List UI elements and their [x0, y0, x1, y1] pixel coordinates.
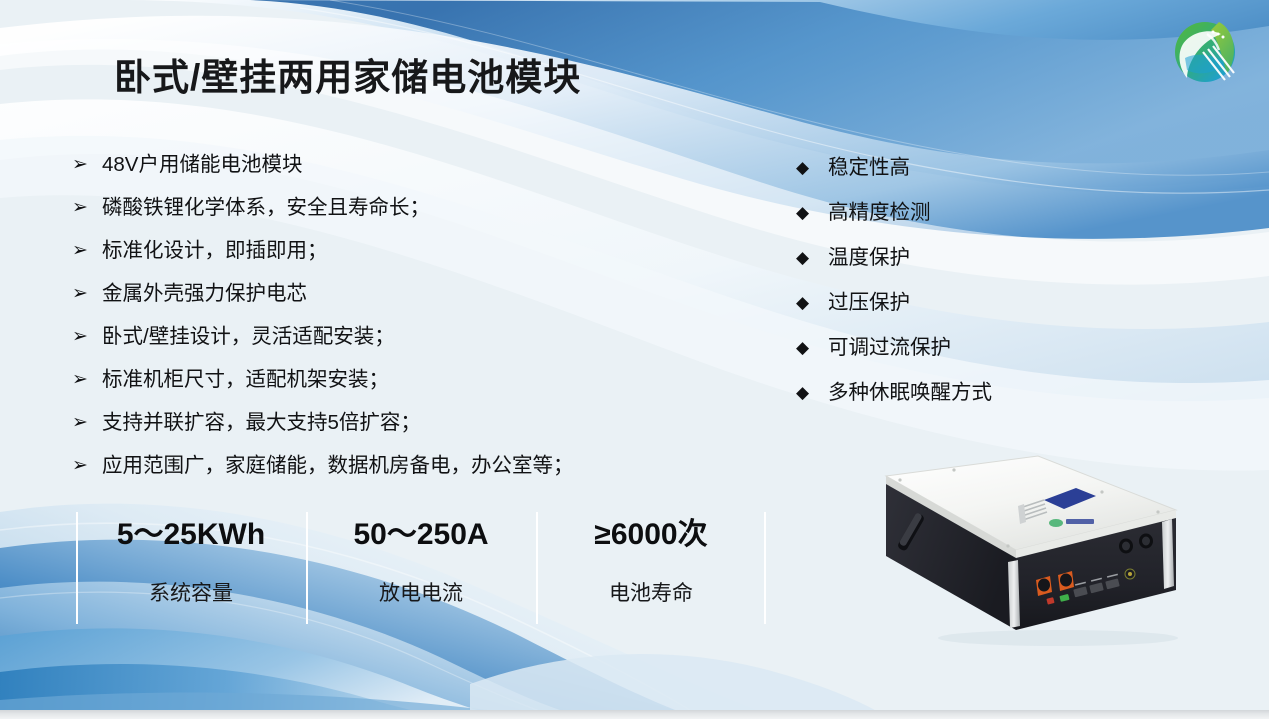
list-item-label: 磷酸铁锂化学体系，安全且寿命长；: [102, 195, 712, 221]
diamond-bullet-icon: ◆: [796, 245, 828, 271]
list-item: ◆ 高精度检测: [796, 200, 1096, 226]
features-right-list: ◆ 稳定性高 ◆ 高精度检测 ◆ 温度保护 ◆ 过压保护 ◆ 可调过流保护 ◆ …: [796, 155, 1096, 425]
list-item-label: 温度保护: [828, 245, 1096, 271]
list-item: ◆ 可调过流保护: [796, 335, 1096, 361]
stat-value: 50～250A: [306, 516, 536, 554]
list-item: ➢ 标准化设计，即插即用；: [72, 238, 712, 264]
list-item-label: 卧式/壁挂设计，灵活适配安装；: [102, 324, 712, 350]
stat-label: 放电电流: [306, 580, 536, 608]
diamond-bullet-icon: ◆: [796, 380, 828, 406]
list-item: ◆ 温度保护: [796, 245, 1096, 271]
list-item-label: 支持并联扩容，最大支持5倍扩容；: [102, 410, 712, 436]
stat-card: 50～250A 放电电流: [306, 508, 536, 626]
diamond-bullet-icon: ◆: [796, 290, 828, 316]
list-item: ➢ 金属外壳强力保护电芯: [72, 281, 712, 307]
list-item-label: 可调过流保护: [828, 335, 1096, 361]
stat-card: ≥6000次 电池寿命: [536, 508, 766, 626]
list-item-label: 标准机柜尺寸，适配机架安装；: [102, 367, 712, 393]
arrow-bullet-icon: ➢: [72, 324, 102, 350]
stat-label: 电池寿命: [536, 580, 766, 608]
list-item-label: 高精度检测: [828, 200, 1096, 226]
diamond-bullet-icon: ◆: [796, 335, 828, 361]
stat-card: 5～25KWh 系统容量: [76, 508, 306, 626]
list-item-label: 过压保护: [828, 290, 1096, 316]
arrow-bullet-icon: ➢: [72, 410, 102, 436]
arrow-bullet-icon: ➢: [72, 238, 102, 264]
list-item-label: 金属外壳强力保护电芯: [102, 281, 712, 307]
arrow-bullet-icon: ➢: [72, 195, 102, 221]
list-item: ◆ 多种休眠唤醒方式: [796, 380, 1096, 406]
arrow-bullet-icon: ➢: [72, 152, 102, 178]
list-item-label: 标准化设计，即插即用；: [102, 238, 712, 264]
page-title: 卧式/壁挂两用家储电池模块: [114, 56, 581, 100]
company-logo: [1163, 8, 1251, 96]
battery-module-photo: [858, 440, 1258, 670]
stat-value: ≥6000次: [536, 516, 766, 554]
arrow-bullet-icon: ➢: [72, 281, 102, 307]
slide-root: 卧式/壁挂两用家储电池模块 ➢ 48V户用储能电池模块 ➢ 磷酸铁锂化学体系，安…: [0, 0, 1269, 719]
list-item: ➢ 应用范围广，家庭储能，数据机房备电，办公室等；: [72, 453, 712, 479]
list-item: ➢ 48V户用储能电池模块: [72, 152, 712, 178]
list-item-label: 稳定性高: [828, 155, 1096, 181]
list-item-label: 多种休眠唤醒方式: [828, 380, 1096, 406]
stat-value: 5～25KWh: [76, 516, 306, 554]
list-item-label: 应用范围广，家庭储能，数据机房备电，办公室等；: [102, 453, 712, 479]
arrow-bullet-icon: ➢: [72, 367, 102, 393]
list-item: ➢ 标准机柜尺寸，适配机架安装；: [72, 367, 712, 393]
list-item: ➢ 卧式/壁挂设计，灵活适配安装；: [72, 324, 712, 350]
list-item: ◆ 稳定性高: [796, 155, 1096, 181]
footer-strip: [0, 710, 1269, 719]
features-left-list: ➢ 48V户用储能电池模块 ➢ 磷酸铁锂化学体系，安全且寿命长； ➢ 标准化设计…: [72, 152, 712, 496]
diamond-bullet-icon: ◆: [796, 155, 828, 181]
arrow-bullet-icon: ➢: [72, 453, 102, 479]
spec-stats-row: 5～25KWh 系统容量 50～250A 放电电流 ≥6000次 电池寿命: [76, 508, 766, 626]
list-item: ➢ 磷酸铁锂化学体系，安全且寿命长；: [72, 195, 712, 221]
list-item: ◆ 过压保护: [796, 290, 1096, 316]
stat-label: 系统容量: [76, 580, 306, 608]
list-item: ➢ 支持并联扩容，最大支持5倍扩容；: [72, 410, 712, 436]
diamond-bullet-icon: ◆: [796, 200, 828, 226]
list-item-label: 48V户用储能电池模块: [102, 152, 712, 178]
